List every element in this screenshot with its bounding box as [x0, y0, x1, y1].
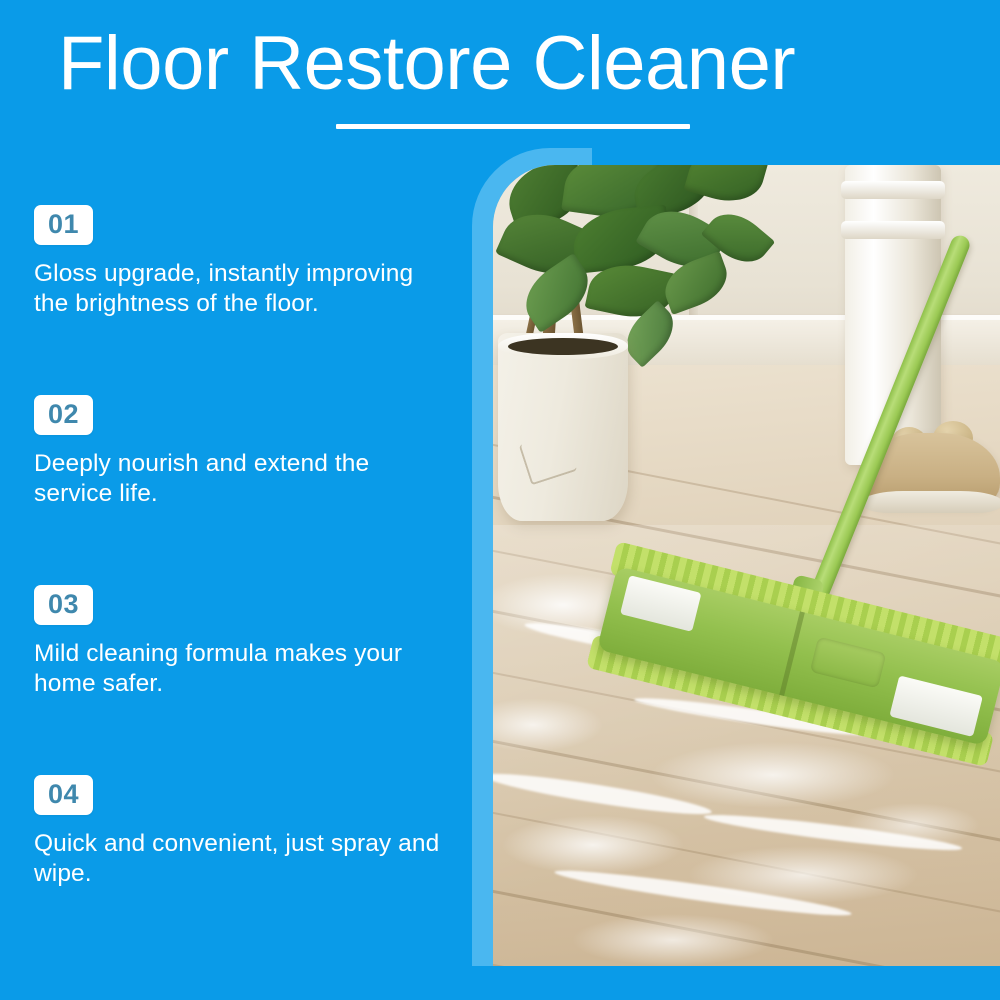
pot-surface-mark	[519, 431, 578, 486]
feature-item-02: 02 Deeply nourish and extend the service…	[34, 395, 459, 585]
feature-item-01: 01 Gloss upgrade, instantly improving th…	[34, 205, 459, 395]
feature-item-04: 04 Quick and convenient, just spray and …	[34, 775, 459, 965]
feature-number-badge-02: 02	[34, 395, 93, 435]
title-underline-rule	[336, 124, 690, 129]
feature-text-02: Deeply nourish and extend the service li…	[34, 449, 454, 509]
table-leg-band	[841, 181, 945, 199]
feature-number-badge-04: 04	[34, 775, 93, 815]
pot-rim-inner	[508, 338, 618, 355]
plant-pot	[498, 333, 628, 521]
feature-item-03: 03 Mild cleaning formula makes your home…	[34, 585, 459, 775]
feature-number-badge-03: 03	[34, 585, 93, 625]
feature-text-03: Mild cleaning formula makes your home sa…	[34, 639, 454, 699]
feature-text-01: Gloss upgrade, instantly improving the b…	[34, 259, 454, 319]
slipper-sole	[861, 491, 1000, 513]
feature-text-04: Quick and convenient, just spray and wip…	[34, 829, 454, 889]
infographic-page: Floor Restore Cleaner 01 Gloss upgrade, …	[0, 0, 1000, 1000]
feature-number-badge-01: 01	[34, 205, 93, 245]
bottom-blue-strip	[0, 966, 1000, 1000]
feature-list: 01 Gloss upgrade, instantly improving th…	[34, 205, 459, 965]
product-photo	[493, 165, 1000, 966]
page-title: Floor Restore Cleaner	[58, 22, 958, 106]
table-leg-band	[841, 221, 945, 239]
